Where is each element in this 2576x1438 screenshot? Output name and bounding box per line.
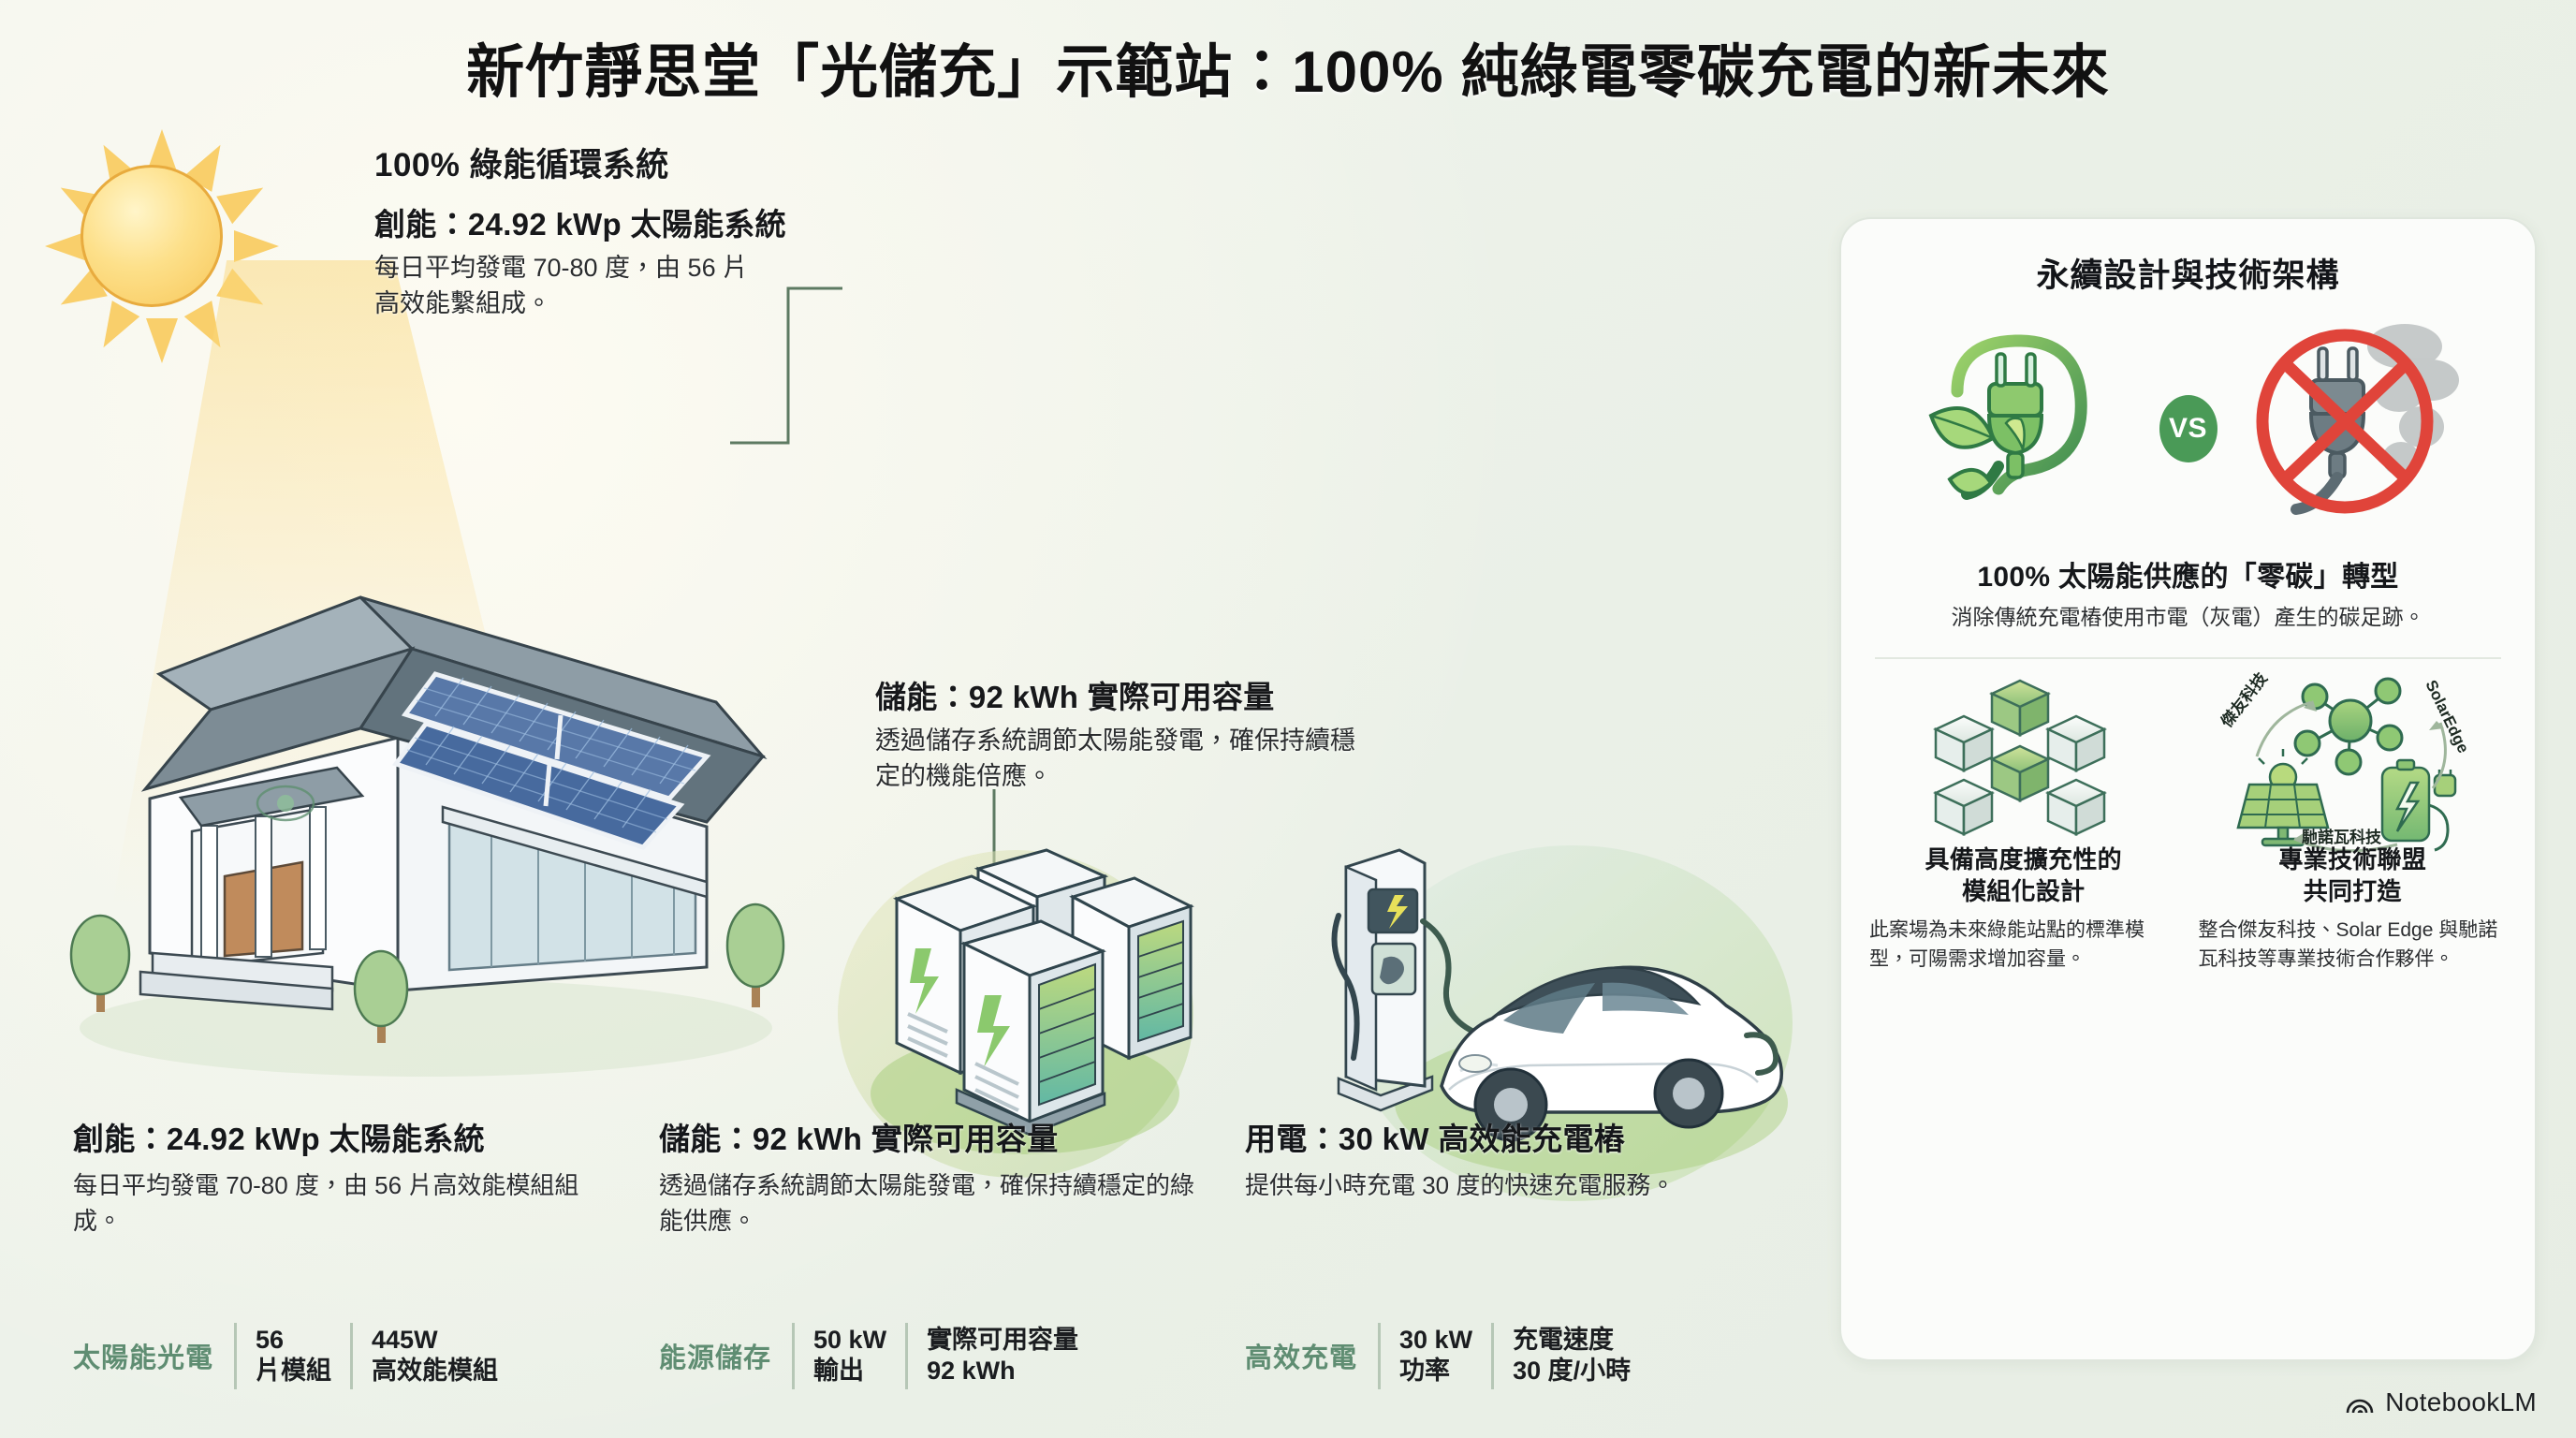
callout-storage-body: 透過儲存系統調節太陽能發電，確保持續穩定的機能倍應。 — [875, 723, 1362, 795]
stat-cell: 56片模組 — [234, 1323, 350, 1390]
green-plug-leaf-icon — [1909, 326, 2143, 532]
modular-heading-line1: 具備高度擴充性的 — [1869, 844, 2178, 876]
column-body: 透過儲存系統調節太陽能發電，確保持續穩定的綠能供應。 — [659, 1168, 1207, 1239]
stat-cell: 實際可用容量92 kWh — [905, 1323, 1097, 1390]
zero-carbon-body: 消除傳統充電樁使用市電（灰電）產生的碳足跡。 — [1869, 602, 2507, 633]
sustainability-panel: 永續設計與技術架構 VS — [1839, 217, 2537, 1361]
stat-bar-solar: 太陽能光電 56片模組 445W高效能模組 — [73, 1323, 517, 1390]
zero-carbon-heading: 100% 太陽能供應的「零碳」轉型 — [1869, 553, 2507, 594]
modular-heading-line2: 模組化設計 — [1869, 876, 2178, 908]
stat-bar-charging: 高效充電 30 kW功率 充電速度30 度/小時 — [1245, 1323, 1649, 1390]
panel-col-modular: 具備高度擴充性的 模組化設計 此案場為未來綠能站點的標準模型，可陽需求增加容量。 — [1869, 667, 2178, 975]
alliance-heading-line2: 共同打造 — [2199, 876, 2508, 908]
alliance-label-left: 傑友科技 — [2217, 668, 2272, 731]
vs-badge: VS — [2159, 395, 2217, 462]
tree-icon — [71, 916, 129, 1012]
column-energy-storage: 儲能：92 kWh 實際可用容量 透過儲存系統調節太陽能發電，確保持續穩定的綠能… — [659, 1114, 1207, 1395]
alliance-heading-line1: 專業技術聯盟 — [2199, 844, 2508, 876]
stat-cell: 30 kW功率 — [1378, 1323, 1491, 1390]
stat-cell: 50 kW輸出 — [792, 1323, 905, 1390]
callout-storage-subhead: 儲能：92 kWh 實際可用容量 — [875, 672, 1437, 717]
green-vs-grey-comparison: VS — [1869, 321, 2507, 536]
notebooklm-logo-icon — [2346, 1390, 2374, 1415]
stat-bar-storage: 能源儲存 50 kW輸出 實際可用容量92 kWh — [659, 1323, 1097, 1390]
modular-cubes-icon — [1869, 667, 2178, 844]
tree-icon — [727, 904, 783, 1007]
technology-alliance-icon: 傑友科技 SolarEdge 馳諾瓦科技 — [2199, 667, 2508, 844]
page-title: 新竹靜思堂「光儲充」示範站：100% 純綠電零碳充電的新未來 — [0, 24, 2576, 109]
alliance-body: 整合傑友科技、Solar Edge 與馳諾瓦科技等專業技術合作夥伴。 — [2199, 916, 2508, 975]
callout-solar-headline: 100% 綠能循環系統 — [374, 139, 955, 186]
column-solar-generation: 創能：24.92 kWp 太陽能系統 每日平均發電 70-80 度，由 56 片… — [73, 1114, 622, 1395]
modular-body: 此案場為未來綠能站點的標準模型，可陽需求增加容量。 — [1869, 916, 2178, 975]
notebooklm-label: NotebookLM — [2385, 1387, 2537, 1417]
stat-cell: 445W高效能模組 — [350, 1323, 517, 1390]
stat-cell: 充電速度30 度/小時 — [1491, 1323, 1649, 1390]
alliance-label-bottom: 馳諾瓦科技 — [2302, 828, 2382, 846]
alliance-label-right: SolarEdge — [2422, 678, 2473, 756]
callout-solar-body: 每日平均發電 70-80 度，由 56 片高效能繫組成。 — [374, 250, 758, 322]
no-grid-plug-smoke-icon — [2234, 326, 2468, 532]
column-heading: 用電：30 kW 高效能充電樁 — [1245, 1114, 1793, 1159]
panel-title: 永續設計與技術架構 — [1869, 249, 2507, 297]
bottom-columns: 創能：24.92 kWp 太陽能系統 每日平均發電 70-80 度，由 56 片… — [73, 1114, 1795, 1395]
stat-label: 太陽能光電 — [73, 1323, 234, 1390]
callout-solar-generation: 100% 綠能循環系統 創能：24.92 kWp 太陽能系統 每日平均發電 70… — [374, 139, 955, 322]
callout-solar-subhead: 創能：24.92 kWp 太陽能系統 — [374, 199, 955, 244]
column-charging: 用電：30 kW 高效能充電樁 提供每小時充電 30 度的快速充電服務。 高效充… — [1245, 1114, 1793, 1395]
notebooklm-watermark: NotebookLM — [2346, 1387, 2537, 1417]
column-heading: 創能：24.92 kWp 太陽能系統 — [73, 1114, 622, 1159]
stat-label: 高效充電 — [1245, 1323, 1378, 1390]
column-body: 提供每小時充電 30 度的快速充電服務。 — [1245, 1168, 1793, 1204]
sun-icon — [45, 129, 279, 363]
column-body: 每日平均發電 70-80 度，由 56 片高效能模組組成。 — [73, 1168, 622, 1239]
column-heading: 儲能：92 kWh 實際可用容量 — [659, 1114, 1207, 1159]
leader-line-solar — [730, 279, 861, 448]
panel-divider — [1875, 657, 2501, 659]
jing-si-hall-building-icon — [51, 429, 791, 1084]
panel-sub-columns: 具備高度擴充性的 模組化設計 此案場為未來綠能站點的標準模型，可陽需求增加容量。 — [1869, 667, 2507, 975]
callout-energy-storage: 儲能：92 kWh 實際可用容量 透過儲存系統調節太陽能發電，確保持續穩定的機能… — [875, 672, 1437, 795]
stat-label: 能源儲存 — [659, 1323, 792, 1390]
panel-col-alliance: 傑友科技 SolarEdge 馳諾瓦科技 專業技術聯盟 共同打造 整合傑友科技、… — [2199, 667, 2508, 975]
